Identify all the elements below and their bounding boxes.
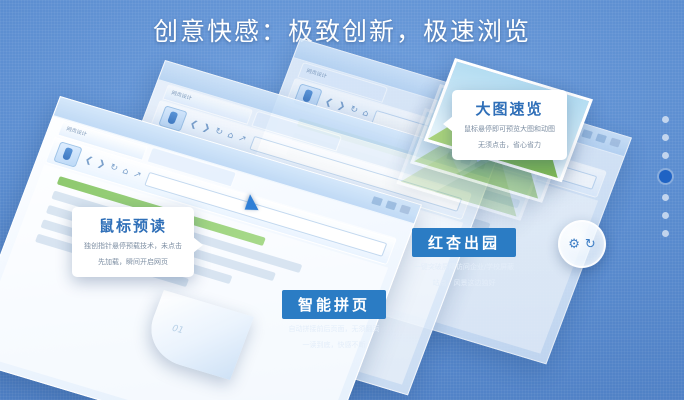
callout-bigimg-box: 大图速览 鼠标悬停即可预览大图和动图 无须点击，省心省力 bbox=[452, 90, 567, 160]
callout-merge: 智能拼页 自动拼接前后页面，无须翻页 一读到底，快感不断 bbox=[282, 290, 386, 351]
slide-canvas: 创意快感：极致创新，极速浏览 网页设计 ❮ ❯ ↻ ⌂ bbox=[0, 0, 684, 400]
pagination-dots bbox=[659, 116, 672, 237]
close-icon[interactable] bbox=[399, 205, 411, 215]
window-buttons-front bbox=[371, 196, 411, 214]
callout-merge-line1: 自动拼接前后页面，无须翻页 bbox=[282, 324, 386, 335]
pagination-dot-7[interactable] bbox=[662, 230, 669, 237]
callout-preread: 鼠标预读 独创指针悬停预载技术，未点击 先加载，瞬间开启网页 bbox=[72, 207, 194, 277]
minimize-icon[interactable] bbox=[581, 129, 593, 139]
callout-unblock-line2: 站点，风景这边独好 bbox=[412, 278, 516, 289]
pagination-dot-3[interactable] bbox=[662, 152, 669, 159]
maximize-icon[interactable] bbox=[385, 200, 397, 210]
callout-bigimg-line1: 鼠标悬停即可预览大图和动图 bbox=[464, 124, 555, 135]
window-buttons-back bbox=[581, 129, 621, 147]
refresh-icon[interactable]: ↻ bbox=[348, 105, 359, 116]
pagination-dot-4-active[interactable] bbox=[659, 170, 672, 183]
pagination-dot-5[interactable] bbox=[662, 194, 669, 201]
minimize-icon[interactable] bbox=[371, 196, 383, 206]
back-icon[interactable]: ❮ bbox=[323, 97, 334, 108]
nav-icons-front: ❮ ❯ ↻ ⌂ ↗ bbox=[83, 155, 142, 181]
forward-icon[interactable]: ❯ bbox=[201, 123, 212, 134]
refresh-icon[interactable]: ↻ bbox=[108, 163, 119, 174]
refresh-icon[interactable]: ↻ bbox=[213, 127, 224, 138]
refresh-icon: ↻ bbox=[585, 238, 596, 251]
callout-pointer-icon bbox=[193, 237, 203, 253]
pagination-dot-1[interactable] bbox=[662, 116, 669, 123]
callout-preread-line2: 先加载，瞬间开启网页 bbox=[84, 257, 182, 268]
callout-unblock-line1: 一键突破屏障访问企业/学校屏蔽 bbox=[412, 262, 516, 273]
home-icon[interactable]: ⌂ bbox=[226, 130, 235, 141]
pagination-dot-2[interactable] bbox=[662, 134, 669, 141]
callout-preread-line1: 独创指针悬停预载技术，未点击 bbox=[84, 241, 182, 252]
callout-preread-title: 鼠标预读 bbox=[84, 215, 182, 236]
callout-bigimg-title: 大图速览 bbox=[464, 98, 555, 119]
forward-icon[interactable]: ❯ bbox=[96, 159, 107, 170]
callout-pointer-icon bbox=[443, 116, 453, 132]
back-icon[interactable]: ❮ bbox=[188, 119, 199, 130]
back-icon[interactable]: ❮ bbox=[83, 155, 94, 166]
share-icon[interactable]: ↗ bbox=[132, 170, 143, 181]
callout-merge-line2: 一读到底，快感不断 bbox=[282, 340, 386, 351]
home-icon[interactable]: ⌂ bbox=[361, 108, 370, 119]
callout-bigimg-line2: 无须点击，省心省力 bbox=[464, 140, 555, 151]
maximize-icon[interactable] bbox=[595, 133, 607, 143]
browser-logo-icon bbox=[53, 141, 82, 167]
close-icon[interactable] bbox=[609, 138, 621, 148]
home-icon[interactable]: ⌂ bbox=[121, 166, 130, 177]
callout-unblock-title: 红杏出园 bbox=[412, 228, 516, 257]
share-icon[interactable]: ↗ bbox=[237, 134, 248, 145]
forward-icon[interactable]: ❯ bbox=[336, 101, 347, 112]
pagination-dot-6[interactable] bbox=[662, 212, 669, 219]
callout-unblock: 红杏出园 一键突破屏障访问企业/学校屏蔽 站点，风景这边独好 bbox=[412, 228, 516, 289]
callout-merge-title: 智能拼页 bbox=[282, 290, 386, 319]
settings-gear-icon: ⚙ bbox=[568, 238, 580, 251]
callout-preread-box: 鼠标预读 独创指针悬停预载技术，未点击 先加载，瞬间开启网页 bbox=[72, 207, 194, 277]
magnifier-lens: ⚙ ↻ bbox=[558, 220, 606, 268]
callout-bigimg: 大图速览 鼠标悬停即可预览大图和动图 无须点击，省心省力 bbox=[452, 90, 567, 160]
